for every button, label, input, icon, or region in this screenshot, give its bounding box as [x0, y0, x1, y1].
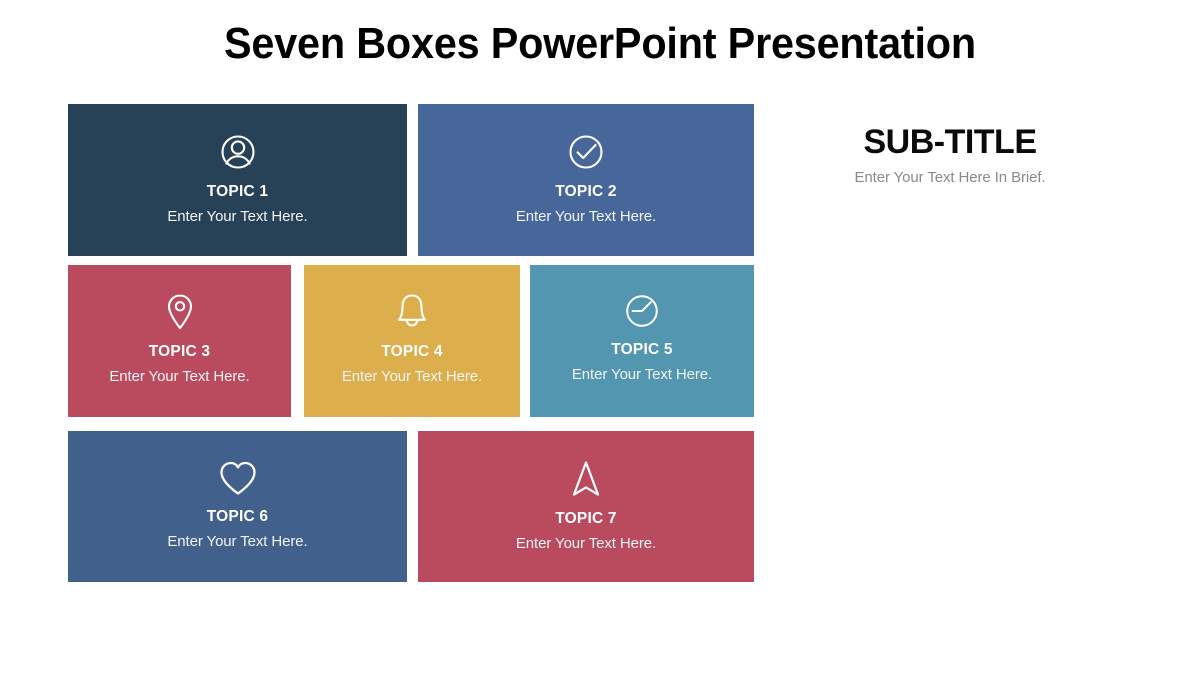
topic-box-4-text: Enter Your Text Here. — [342, 366, 482, 388]
slide-canvas: Seven Boxes PowerPoint Presentation TOPI… — [0, 0, 1200, 675]
topic-box-4[interactable]: TOPIC 4 Enter Your Text Here. — [304, 265, 520, 417]
topic-box-7-title: TOPIC 7 — [555, 510, 616, 528]
topic-box-1[interactable]: TOPIC 1 Enter Your Text Here. — [68, 104, 407, 256]
map-pin-icon — [160, 290, 200, 334]
topic-box-6-title: TOPIC 6 — [207, 508, 268, 526]
topic-box-2-title: TOPIC 2 — [555, 183, 616, 201]
topic-box-5[interactable]: TOPIC 5 Enter Your Text Here. — [530, 265, 754, 417]
topic-box-4-title: TOPIC 4 — [381, 343, 442, 361]
topic-box-2[interactable]: TOPIC 2 Enter Your Text Here. — [418, 104, 754, 256]
topic-box-3-title: TOPIC 3 — [149, 343, 210, 361]
topic-box-7-text: Enter Your Text Here. — [516, 533, 656, 555]
topic-box-5-title: TOPIC 5 — [611, 341, 672, 359]
user-circle-icon — [216, 130, 260, 174]
topic-box-2-text: Enter Your Text Here. — [516, 206, 656, 228]
topic-box-6[interactable]: TOPIC 6 Enter Your Text Here. — [68, 431, 407, 582]
side-panel-subtitle: Enter Your Text Here In Brief. — [780, 168, 1120, 188]
page-title: Seven Boxes PowerPoint Presentation — [36, 18, 1164, 70]
clock-icon — [621, 290, 663, 332]
check-circle-icon — [564, 130, 608, 174]
side-panel-title: SUB-TITLE — [780, 122, 1120, 162]
navigation-arrow-icon — [567, 457, 605, 501]
bell-icon — [392, 290, 432, 334]
topic-box-5-text: Enter Your Text Here. — [572, 364, 712, 386]
side-panel: SUB-TITLE Enter Your Text Here In Brief. — [780, 122, 1120, 188]
topic-box-1-text: Enter Your Text Here. — [167, 206, 307, 228]
topic-box-1-title: TOPIC 1 — [207, 183, 268, 201]
topic-box-6-text: Enter Your Text Here. — [167, 531, 307, 553]
topic-box-3[interactable]: TOPIC 3 Enter Your Text Here. — [68, 265, 291, 417]
topic-box-3-text: Enter Your Text Here. — [109, 366, 249, 388]
topic-box-7[interactable]: TOPIC 7 Enter Your Text Here. — [418, 431, 754, 582]
heart-icon — [215, 457, 261, 499]
